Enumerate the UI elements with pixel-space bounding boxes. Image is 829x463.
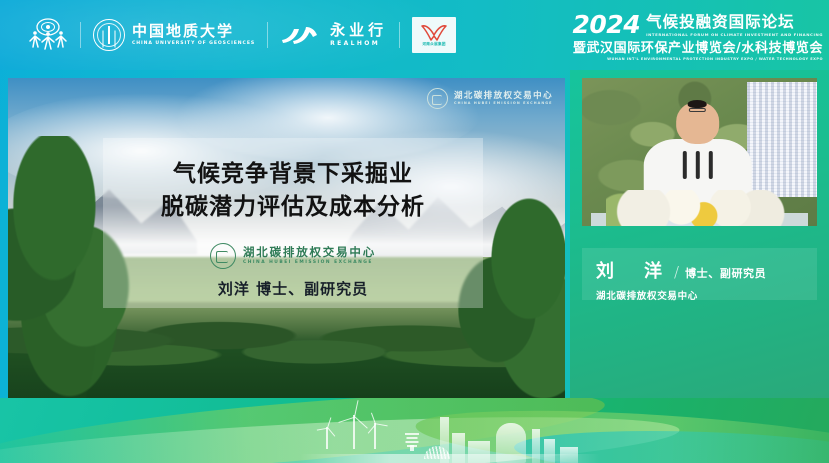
forum-year: 2024 (573, 12, 641, 37)
speaker-head (676, 102, 719, 144)
logo-china-university-of-geosciences: 中国地质大学 CHINA UNIVERSITY OF GEOSCIENCES (81, 14, 267, 56)
group-mark-caption: 河南众展集团 (422, 42, 445, 47)
sponsor-logo-strip: 中国地质大学 CHINA UNIVERSITY OF GEOSCIENCES (16, 14, 468, 56)
cug-name-cn: 中国地质大学 (132, 24, 255, 39)
slide-presenter: 刘洋 博士、副研究员 (103, 278, 483, 299)
slide-org-logo: 湖北碳排放权交易中心 CHINA HUBEI EMISSION EXCHANGE (103, 243, 483, 269)
speaker-glasses-icon (689, 108, 706, 112)
slide-title-line-1: 气候竞争背景下采掘业 (103, 158, 483, 191)
broadcast-frame: 中国地质大学 CHINA UNIVERSITY OF GEOSCIENCES (0, 0, 829, 463)
slide-title-line-2: 脱碳潜力评估及成本分析 (103, 191, 483, 224)
speaker-role: 博士、副研究员 (685, 265, 766, 281)
forum-title-en: INTERNATIONAL FORUM ON CLIMATE INVESTMEN… (646, 33, 823, 37)
speaker-panel: 刘 洋 / 博士、副研究员 湖北碳排放权交易中心 (570, 70, 829, 398)
video-flower-arrangement (606, 190, 794, 226)
hubei-exchange-icon (210, 243, 236, 269)
wind-turbine-small-icon (318, 423, 336, 449)
hubei-exchange-icon (427, 88, 448, 109)
realhom-name-cn: 永业行 (330, 23, 387, 38)
speaker-identity-card: 刘 洋 / 博士、副研究员 湖北碳排放权交易中心 (582, 248, 817, 300)
video-stage-screen (747, 82, 818, 197)
logo-hubei-dance-emblem (16, 14, 80, 56)
forum-title-cn: 气候投融资国际论坛 (646, 15, 795, 31)
realhom-mark-icon (280, 23, 322, 47)
realhom-name-en: REALHOM (330, 41, 387, 47)
slide-title-card: 气候竞争背景下采掘业 脱碳潜力评估及成本分析 湖北碳排放权交易中心 CHINA … (103, 138, 483, 308)
logo-group-w-mark: 河南众展集团 (400, 14, 468, 56)
speaker-organization: 湖北碳排放权交易中心 (582, 283, 817, 302)
pagoda-tower-icon (404, 431, 420, 453)
slide-corner-logo-cn: 湖北碳排放权交易中心 (454, 92, 553, 101)
logo-realhom: 永业行 REALHOM (268, 14, 399, 56)
w-wings-icon (421, 24, 447, 41)
city-ground-line (300, 454, 600, 463)
logo-divider-1 (80, 22, 81, 48)
wind-turbine-large-icon (342, 409, 366, 449)
slide-org-name-cn: 湖北碳排放权交易中心 (243, 247, 376, 259)
speaker-video-feed[interactable] (582, 78, 817, 226)
slide-corner-logo-en: CHINA HUBEI EMISSION EXCHANGE (454, 102, 553, 105)
slide-corner-logo: 湖北碳排放权交易中心 CHINA HUBEI EMISSION EXCHANGE (427, 88, 553, 109)
dance-emblem-icon (28, 16, 68, 54)
header-bar: 中国地质大学 CHINA UNIVERSITY OF GEOSCIENCES (0, 0, 829, 70)
presentation-slide[interactable]: 湖北碳排放权交易中心 CHINA HUBEI EMISSION EXCHANGE… (8, 78, 565, 398)
speaker-name: 刘 洋 (596, 257, 668, 283)
footer-eco-city-illustration (300, 405, 600, 463)
cug-seal-icon (93, 19, 125, 51)
footer-band (0, 398, 829, 463)
forum-title-block: 2024 气候投融资国际论坛 INTERNATIONAL FORUM ON CL… (573, 12, 823, 61)
forum-subtitle-cn: 暨武汉国际环保产业博览会/水科技博览会 (573, 42, 823, 55)
forum-subtitle-en: WUHAN INT'L ENVIRONMENTAL PROTECTION IND… (573, 58, 823, 62)
slide-org-name-en: CHINA HUBEI EMISSION EXCHANGE (243, 261, 376, 265)
wind-turbine-mid-icon (366, 419, 384, 449)
speaker-separator: / (674, 263, 679, 281)
logo-divider-3 (399, 22, 400, 48)
logo-divider-2 (267, 22, 268, 48)
microphone-icon (695, 151, 699, 178)
cug-name-en: CHINA UNIVERSITY OF GEOSCIENCES (132, 42, 255, 47)
